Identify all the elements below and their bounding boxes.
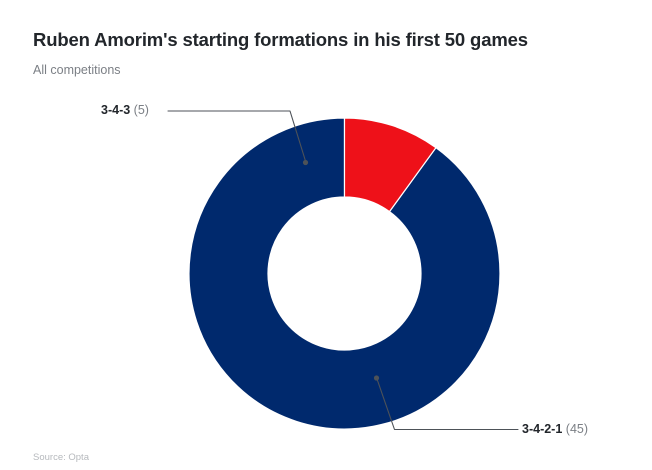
callout-label-3-4-2-1-count: (45) — [566, 422, 588, 436]
callout-label-3-4-3: 3-4-3 (5) — [101, 104, 149, 117]
donut-plot-area — [0, 0, 652, 470]
callout-label-3-4-3-count: (5) — [134, 103, 149, 117]
callout-label-3-4-2-1-name: 3-4-2-1 — [522, 422, 562, 436]
leader-dot-3-4-3 — [303, 160, 308, 165]
leader-dot-3-4-2-1 — [374, 375, 379, 380]
callout-label-3-4-2-1: 3-4-2-1 (45) — [522, 423, 588, 436]
chart-source-note: Source: Opta — [33, 452, 89, 463]
donut-chart-figure: Ruben Amorim's starting formations in hi… — [0, 0, 652, 470]
callout-label-3-4-3-name: 3-4-3 — [101, 103, 130, 117]
